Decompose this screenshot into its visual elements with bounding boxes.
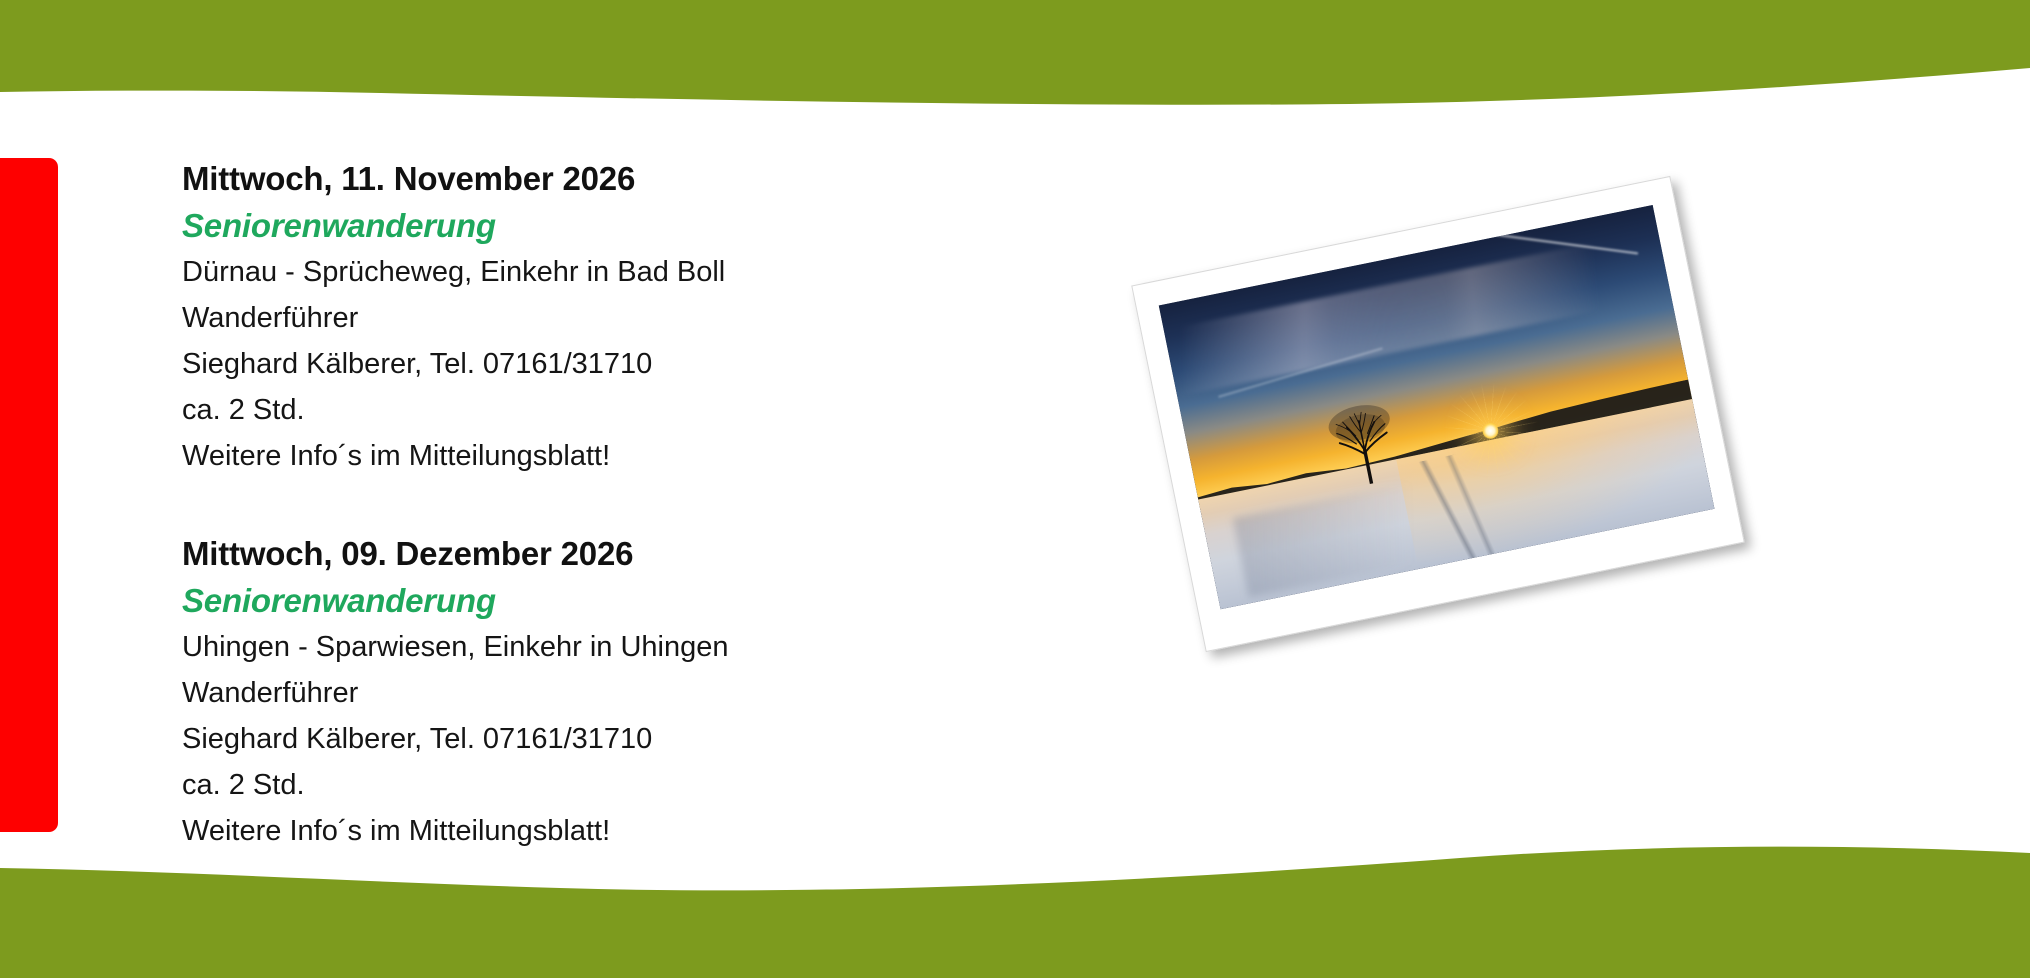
winter-sunset-photo [1159,205,1715,609]
event-duration: ca. 2 Std. [182,762,922,808]
event-date: Mittwoch, 11. November 2026 [182,156,922,202]
slide-canvas: Mittwoch, 11. November 2026 Seniorenwand… [0,0,2030,978]
event-block: Mittwoch, 09. Dezember 2026 Seniorenwand… [182,531,922,854]
event-guide: Sieghard Kälberer, Tel. 07161/31710 [182,341,922,387]
bottom-green-wave [0,847,2030,978]
event-note: Weitere Info´s im Mitteilungsblatt! [182,433,922,479]
red-accent-bar [0,158,58,832]
event-title: Seniorenwanderung [182,577,922,624]
event-route: Dürnau - Sprücheweg, Einkehr in Bad Boll [182,249,922,295]
top-green-wave [0,0,2030,105]
event-route: Uhingen - Sparwiesen, Einkehr in Uhingen [182,624,922,670]
event-duration: ca. 2 Std. [182,387,922,433]
winter-sunset-photo-frame [1131,176,1745,652]
event-note: Weitere Info´s im Mitteilungsblatt! [182,808,922,854]
event-role: Wanderführer [182,670,922,716]
event-title: Seniorenwanderung [182,202,922,249]
events-text-column: Mittwoch, 11. November 2026 Seniorenwand… [182,156,922,854]
event-block: Mittwoch, 11. November 2026 Seniorenwand… [182,156,922,479]
event-date: Mittwoch, 09. Dezember 2026 [182,531,922,577]
event-guide: Sieghard Kälberer, Tel. 07161/31710 [182,716,922,762]
event-role: Wanderführer [182,295,922,341]
